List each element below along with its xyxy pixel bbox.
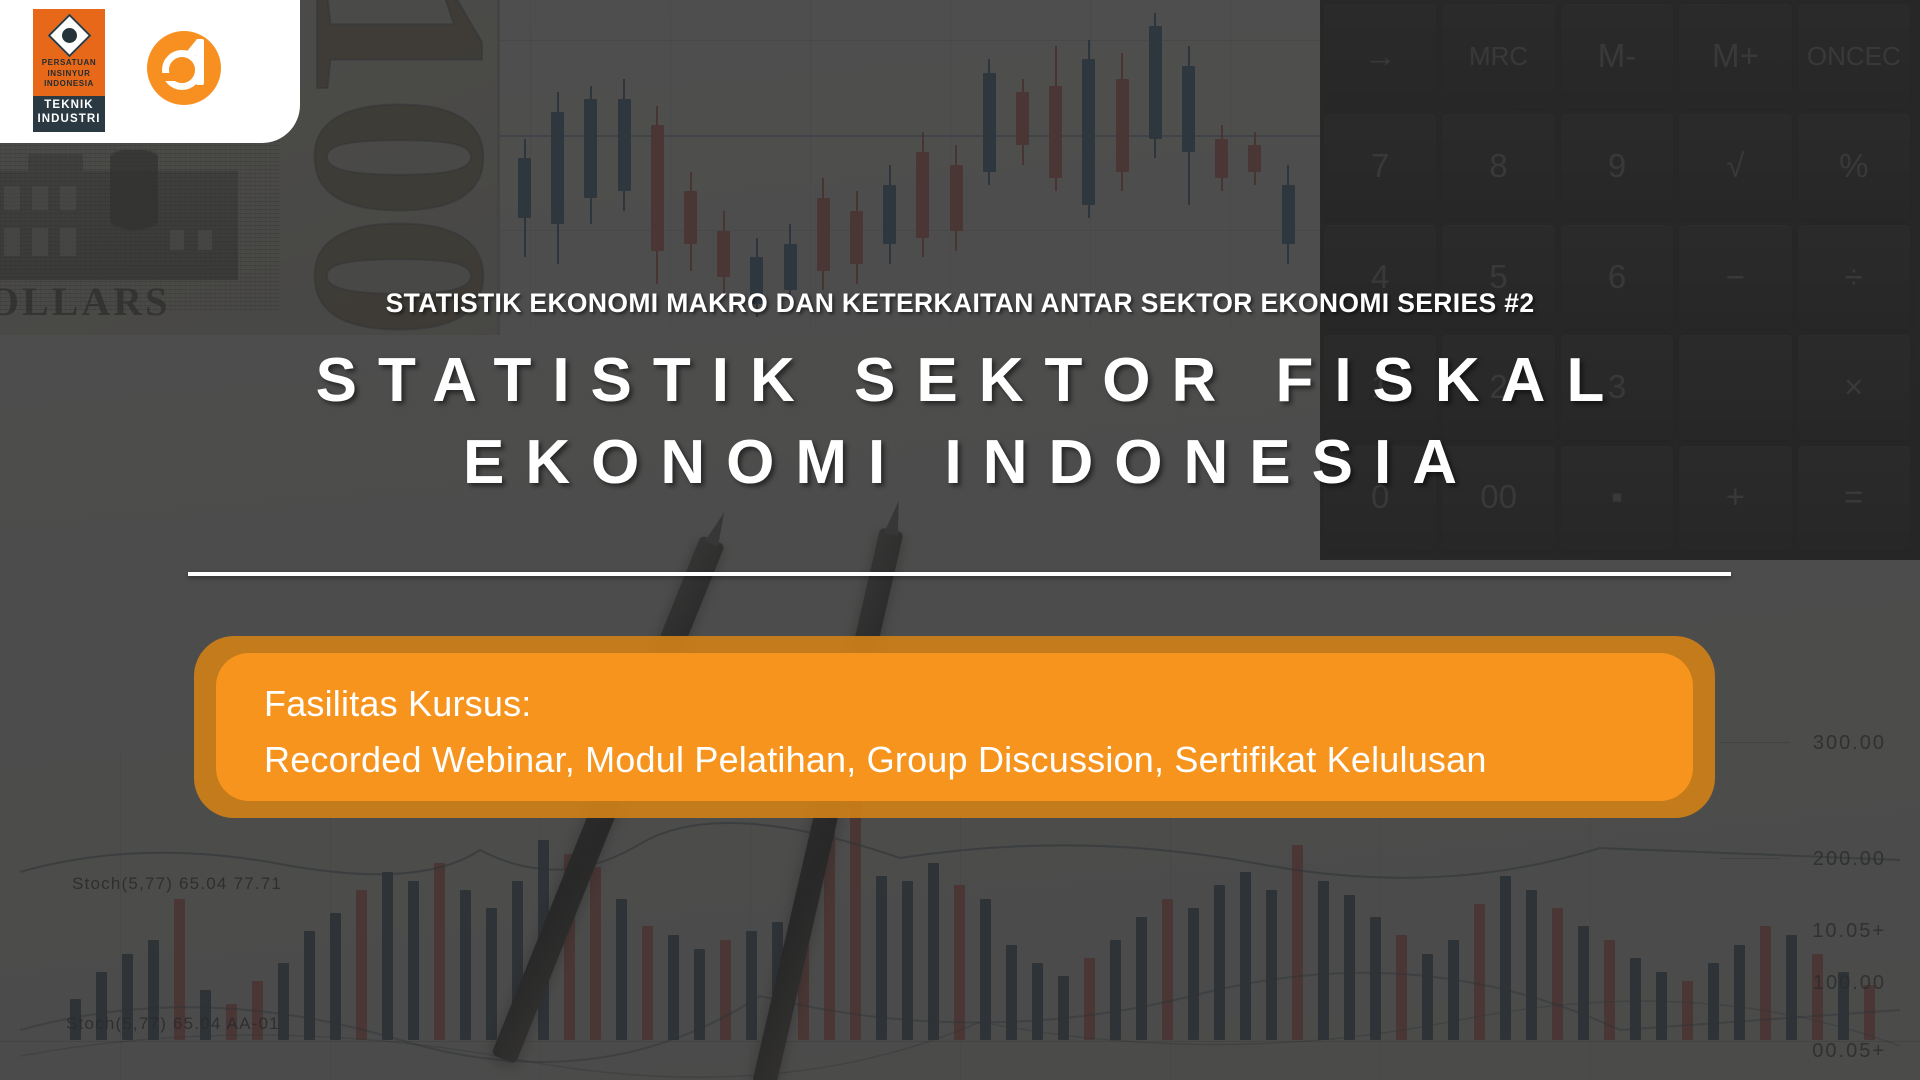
pii-word-2: INDONESIA: [42, 79, 97, 90]
facilities-heading: Fasilitas Kursus:: [264, 680, 1693, 728]
poster-content: STATISTIK EKONOMI MAKRO DAN KETERKAITAN …: [0, 0, 1920, 1080]
series-eyebrow-text: STATISTIK EKONOMI MAKRO DAN KETERKAITAN …: [0, 288, 1920, 319]
pii-org-name: PERSATUAN INSINYUR INDONESIA: [42, 58, 97, 90]
page-title: STATISTIK SEKTOR FISKAL EKONOMI INDONESI…: [0, 340, 1920, 504]
pii-diamond-icon: [46, 15, 92, 55]
pii-logo-top: PERSATUAN INSINYUR INDONESIA: [33, 9, 105, 96]
pii-word-0: PERSATUAN: [42, 58, 97, 69]
facilities-panel: Fasilitas Kursus: Recorded Webinar, Modu…: [194, 636, 1715, 818]
promotional-poster: 100 DOLLARS: [0, 0, 1920, 1080]
pii-logo: PERSATUAN INSINYUR INDONESIA TEKNIK INDU…: [33, 9, 105, 132]
pii-department: TEKNIK INDUSTRI: [33, 96, 105, 132]
title-divider: [188, 572, 1731, 576]
circular-orange-d-logo-icon: [147, 31, 221, 105]
pii-word-1: INSINYUR: [42, 69, 97, 80]
facilities-panel-body: Fasilitas Kursus: Recorded Webinar, Modu…: [216, 653, 1693, 801]
page-title-line2: EKONOMI INDONESIA: [21, 422, 1920, 504]
page-title-line1: STATISTIK SEKTOR FISKAL: [21, 340, 1920, 422]
facilities-items: Recorded Webinar, Modul Pelatihan, Group…: [264, 736, 1693, 784]
pii-department-line1: TEKNIK: [33, 99, 105, 113]
logo-card: PERSATUAN INSINYUR INDONESIA TEKNIK INDU…: [0, 0, 300, 143]
pii-department-line2: INDUSTRI: [33, 113, 105, 127]
